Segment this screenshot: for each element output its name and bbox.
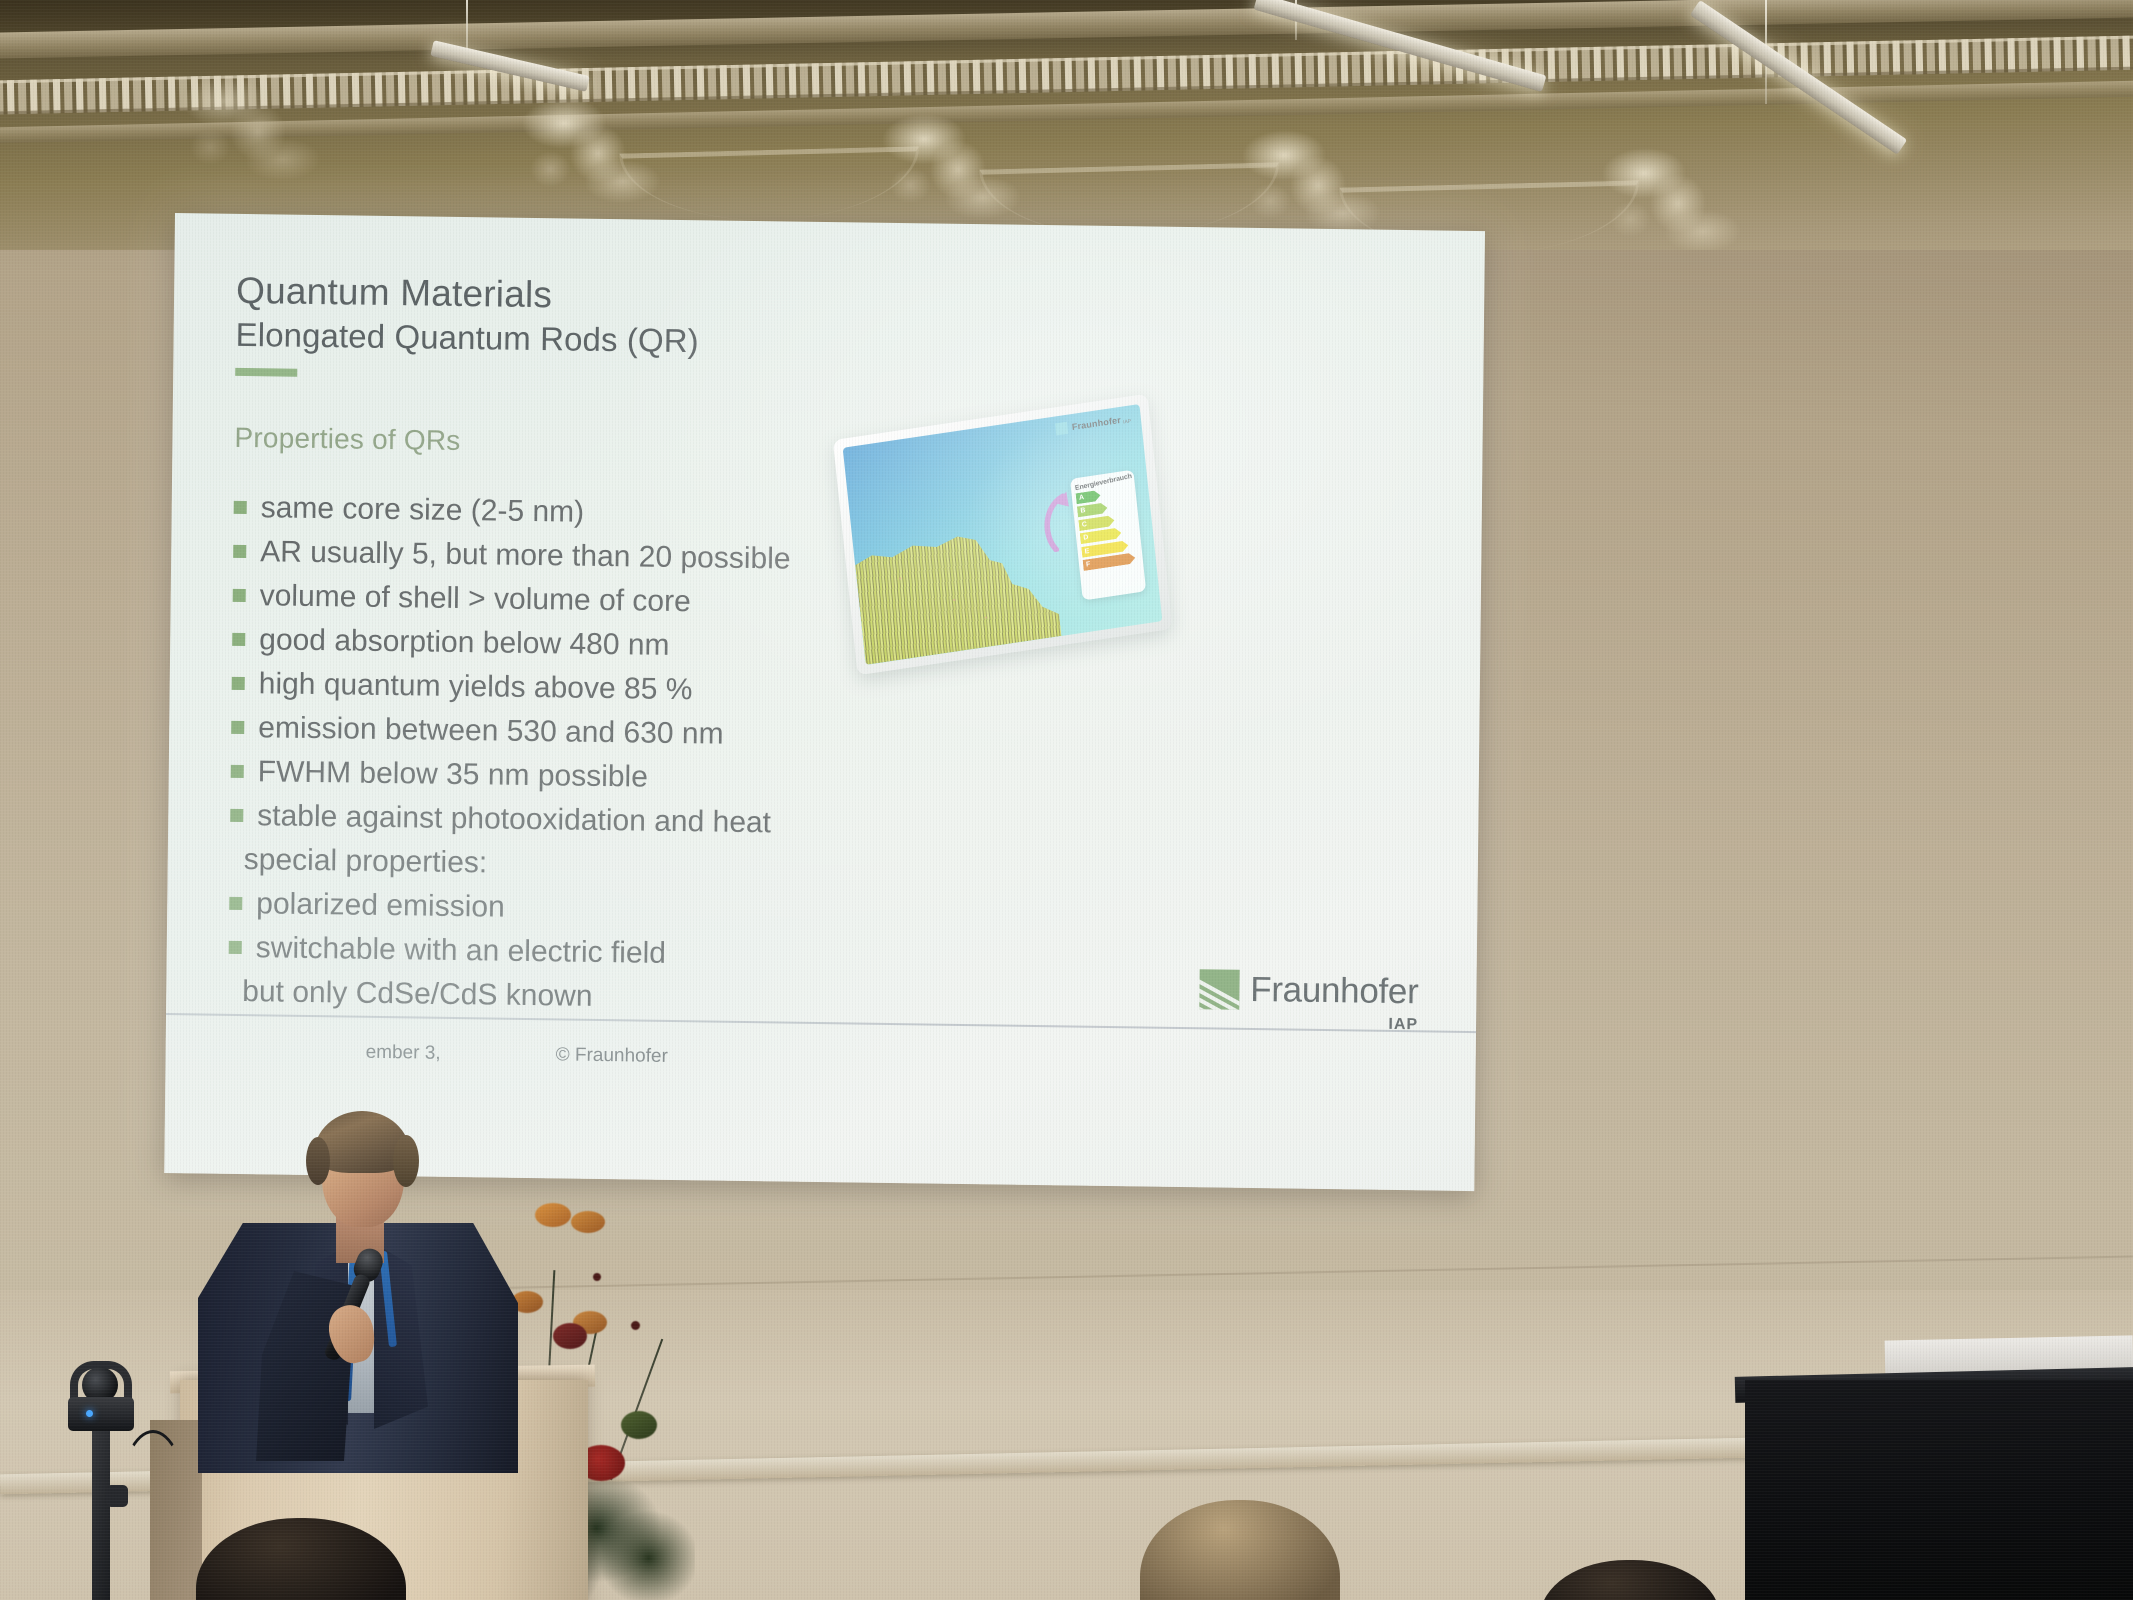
footer-date: ember 3, xyxy=(366,1042,441,1065)
slide-surface: Quantum Materials Elongated Quantum Rods… xyxy=(164,213,1485,1191)
energy-grade-bar: A xyxy=(1076,490,1102,505)
fraunhofer-mark-icon xyxy=(1199,969,1239,1010)
fraunhofer-wordmark: Fraunhofer xyxy=(1250,970,1419,1012)
energy-grade-letter: D xyxy=(1083,534,1089,542)
energy-grade-letter: E xyxy=(1084,548,1089,556)
energy-grade-bar: B xyxy=(1077,502,1108,517)
energy-grade-letter: A xyxy=(1079,494,1085,502)
camera-body xyxy=(68,1397,134,1431)
tv-bezel: Fraunhofer IAP Energieverbrauch ABCDEF xyxy=(833,394,1172,676)
bullet-square-icon xyxy=(229,897,242,910)
bullet-square-icon xyxy=(232,633,245,646)
properties-bullet-list: same core size (2-5 nm)AR usually 5, but… xyxy=(228,488,1442,1028)
energy-grade-bar: C xyxy=(1078,515,1115,531)
floral-bloom xyxy=(535,1203,571,1227)
list-item-label: special properties: xyxy=(244,840,488,882)
stucco-cartouche xyxy=(178,72,331,196)
bullet-square-icon xyxy=(230,809,243,822)
tv-screen: Fraunhofer IAP Energieverbrauch ABCDEF xyxy=(843,404,1163,665)
list-item-label: AR usually 5, but more than 20 possible xyxy=(260,532,791,578)
energy-grade-letter: C xyxy=(1082,521,1088,529)
list-item-label: good absorption below 480 nm xyxy=(259,620,670,665)
presentation-room-photo: Quantum Materials Elongated Quantum Rods… xyxy=(0,0,2133,1600)
floral-leaf xyxy=(621,1411,657,1439)
tv-logo-institute: IAP xyxy=(1123,418,1132,425)
black-draped-table xyxy=(1745,1380,2133,1600)
list-item-label: volume of shell > volume of core xyxy=(260,576,691,621)
list-item-label: same core size (2-5 nm) xyxy=(260,488,584,531)
camera-status-led xyxy=(86,1410,93,1417)
fraunhofer-logo: Fraunhofer xyxy=(1199,969,1419,1012)
bullet-square-icon xyxy=(231,765,244,778)
energy-grade-letter: F xyxy=(1086,561,1091,569)
fraunhofer-institute-label: IAP xyxy=(1388,1016,1418,1034)
floral-berry xyxy=(631,1321,640,1330)
title-accent-bar xyxy=(235,368,297,377)
bullet-square-icon xyxy=(231,721,244,734)
floral-bloom xyxy=(553,1323,587,1349)
quantum-dot-tv-illustration: Fraunhofer IAP Energieverbrauch ABCDEF xyxy=(833,394,1172,676)
projection-screen: Quantum Materials Elongated Quantum Rods… xyxy=(164,213,1485,1191)
list-item-label: polarized emission xyxy=(256,884,505,926)
list-item-label: switchable with an electric field xyxy=(256,928,667,973)
list-item-label: but only CdSe/CdS known xyxy=(242,972,593,1016)
bullet-square-icon xyxy=(234,501,247,514)
presenter-hair xyxy=(314,1111,410,1173)
camera-tripod-pole xyxy=(92,1431,110,1600)
bullet-square-icon xyxy=(232,677,245,690)
floral-berry xyxy=(593,1273,601,1281)
bullet-square-icon xyxy=(229,941,242,954)
energy-label-card: Energieverbrauch ABCDEF xyxy=(1070,470,1146,601)
floral-bloom xyxy=(571,1211,605,1233)
energy-improvement-arrow-icon xyxy=(1040,487,1080,554)
bullet-square-icon xyxy=(233,545,246,558)
energy-grade-letter: B xyxy=(1080,507,1086,515)
list-item-label: FWHM below 35 nm possible xyxy=(258,752,649,796)
bullet-square-icon xyxy=(233,589,246,602)
fraunhofer-mark-icon xyxy=(1055,422,1068,436)
energy-grade-bars: ABCDEF xyxy=(1076,485,1140,571)
list-item-label: high quantum yields above 85 % xyxy=(259,664,693,709)
list-item-label: emission between 530 and 630 nm xyxy=(258,708,724,753)
list-item-label: stable against photooxidation and heat xyxy=(257,796,771,842)
camera-cable xyxy=(118,1430,188,1580)
footer-copyright: © Fraunhofer xyxy=(556,1044,668,1068)
